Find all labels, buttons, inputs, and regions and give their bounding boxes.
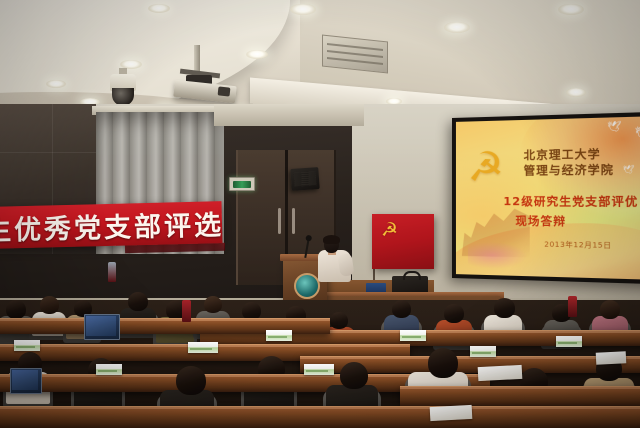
laptop <box>84 314 118 338</box>
desk-edge <box>0 318 330 321</box>
downlight-icon <box>558 4 584 15</box>
downlight-icon <box>444 22 470 33</box>
audience-member-head <box>204 296 222 313</box>
presenter <box>316 236 356 282</box>
desk-row <box>0 406 640 428</box>
dove-icon: 🕊 <box>635 126 640 139</box>
name-placard <box>470 346 496 357</box>
wall-pelmet <box>214 104 364 126</box>
thermos-flask <box>568 296 577 317</box>
exit-sign-icon <box>229 177 255 191</box>
name-placard <box>556 336 582 347</box>
name-placard <box>96 364 122 375</box>
name-placard <box>266 330 292 341</box>
wall-speaker-icon <box>290 167 319 191</box>
audience-member-head <box>40 296 59 314</box>
audience-member-head <box>6 300 26 319</box>
slide-title-line-2: 现场答辩 <box>516 212 567 229</box>
hammer-sickle-icon: ☭ <box>381 221 401 241</box>
audience-member-head <box>428 348 458 378</box>
ceiling-projector-icon <box>170 45 240 107</box>
audience-member-head <box>176 366 206 395</box>
slide-title-line-1: 12级研究生党支部评优 <box>503 193 638 210</box>
dome-security-camera-icon <box>110 68 136 108</box>
hammer-sickle-icon: ☭ <box>468 145 509 190</box>
desk-row <box>400 386 640 406</box>
downlight-icon <box>46 80 66 88</box>
audience-member-head <box>600 300 620 319</box>
dove-icon: 🕊 <box>607 122 621 133</box>
hvac-vent-icon <box>322 35 388 74</box>
slide-floral-graphic <box>468 241 528 270</box>
projection-screen: 🕊 🕊 🕊 🕊 ☭ 北京理工大学 管理与经济学院 12级研究生党支部评优 现场答… <box>456 116 640 280</box>
name-placard <box>188 342 218 353</box>
banner-text: 生优秀党支部评选大会 <box>0 201 222 247</box>
projection-screen-frame: 🕊 🕊 🕊 🕊 ☭ 北京理工大学 管理与经济学院 12级研究生党支部评优 现场答… <box>452 111 640 284</box>
downlight-icon <box>246 50 268 59</box>
downlight-icon <box>290 4 316 15</box>
audience-member-head <box>128 292 148 311</box>
slide-date: 2013年12月15日 <box>544 239 611 251</box>
laptop <box>10 368 40 392</box>
paper-sheet <box>478 365 523 381</box>
thermos-flask <box>182 300 191 322</box>
downlight-icon <box>148 4 170 13</box>
name-placard <box>304 364 334 375</box>
slide-org-line-2: 管理与经济学院 <box>524 161 614 179</box>
downlight-icon <box>566 88 586 97</box>
flag-stand <box>373 268 375 280</box>
desk-edge <box>400 386 640 389</box>
audience-member-head <box>392 300 411 318</box>
audience-member-head <box>330 312 348 329</box>
lecture-hall-photo: 生优秀党支部评选大会 ☭ 🕊 🕊 🕊 🕊 ☭ 北京理工大学 管理与经济学院 12… <box>0 0 640 428</box>
thermos-flask <box>108 262 116 282</box>
cpc-party-flag: ☭ <box>372 214 434 269</box>
event-banner: 生优秀党支部评选大会 <box>0 201 222 249</box>
audience-member-head <box>340 362 368 389</box>
name-placard <box>14 340 40 351</box>
dove-icon: 🕊 <box>623 166 634 175</box>
audience-member-head <box>494 298 515 318</box>
desk-edge <box>0 406 640 409</box>
audience-member-head <box>444 304 464 323</box>
name-placard <box>400 330 426 341</box>
paper-sheet <box>596 351 627 365</box>
paper-sheet <box>430 405 473 421</box>
